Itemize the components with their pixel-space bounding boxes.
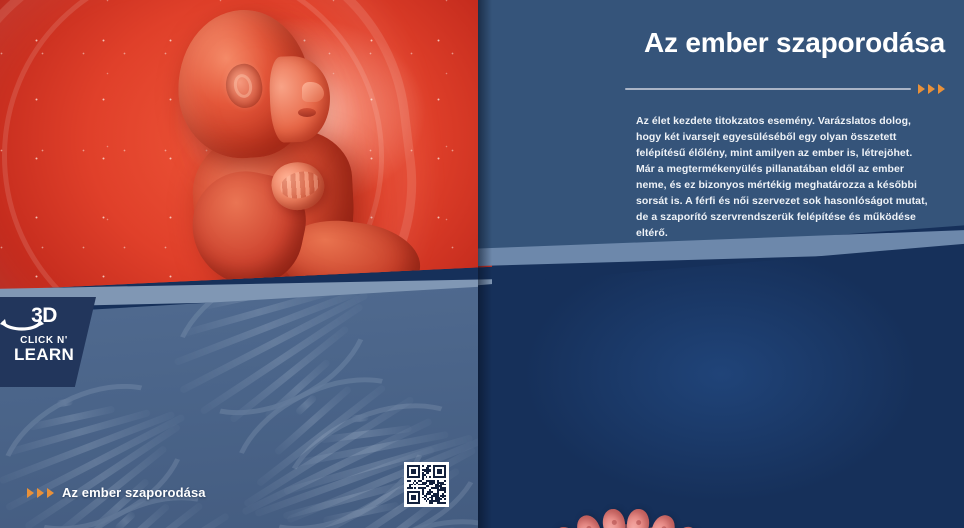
triangle-right-icon: [938, 84, 945, 94]
corona-cell: [647, 512, 678, 528]
page-title: Az ember szaporodása: [525, 28, 945, 59]
horizontal-rule: [625, 88, 911, 90]
fetus-lip: [298, 108, 316, 117]
qr-code-grid: [407, 465, 446, 504]
header-arrows: [918, 84, 945, 94]
right-column: Az ember szaporodása Az élet kezdete tit…: [478, 0, 964, 528]
corona-radiata: [506, 510, 746, 528]
fetus-body: [130, 4, 420, 290]
triangle-right-icon: [27, 488, 34, 498]
corona-cell: [574, 512, 605, 528]
corona-cell: [601, 508, 626, 528]
qr-code[interactable]: [404, 462, 449, 507]
fetus-nose: [302, 82, 324, 102]
qr-module: [444, 502, 446, 504]
triangle-right-icon: [37, 488, 44, 498]
column-seam: [478, 0, 492, 528]
right-bottom-panel: [478, 232, 964, 528]
badge-3d-label: 3D: [0, 305, 96, 326]
fetus-illustration: [0, 0, 492, 290]
title-rule-row: [625, 84, 945, 94]
corona-cell: [626, 508, 651, 528]
triangle-right-icon: [918, 84, 925, 94]
intro-paragraph: Az élet kezdete titokzatos esemény. Vará…: [636, 114, 928, 242]
footer-arrows: [27, 488, 54, 498]
footer-title: Az ember szaporodása: [62, 485, 206, 500]
ovum-illustration: [506, 510, 746, 528]
rotate-arrow-icon: [0, 319, 44, 332]
footer: Az ember szaporodása: [27, 485, 206, 500]
panel-glow: [478, 232, 964, 528]
left-column: 3D CLICK N' LEARN Az ember szaporodása: [0, 0, 492, 528]
slide-root: 3D CLICK N' LEARN Az ember szaporodása: [0, 0, 964, 528]
triangle-right-icon: [47, 488, 54, 498]
triangle-right-icon: [928, 84, 935, 94]
